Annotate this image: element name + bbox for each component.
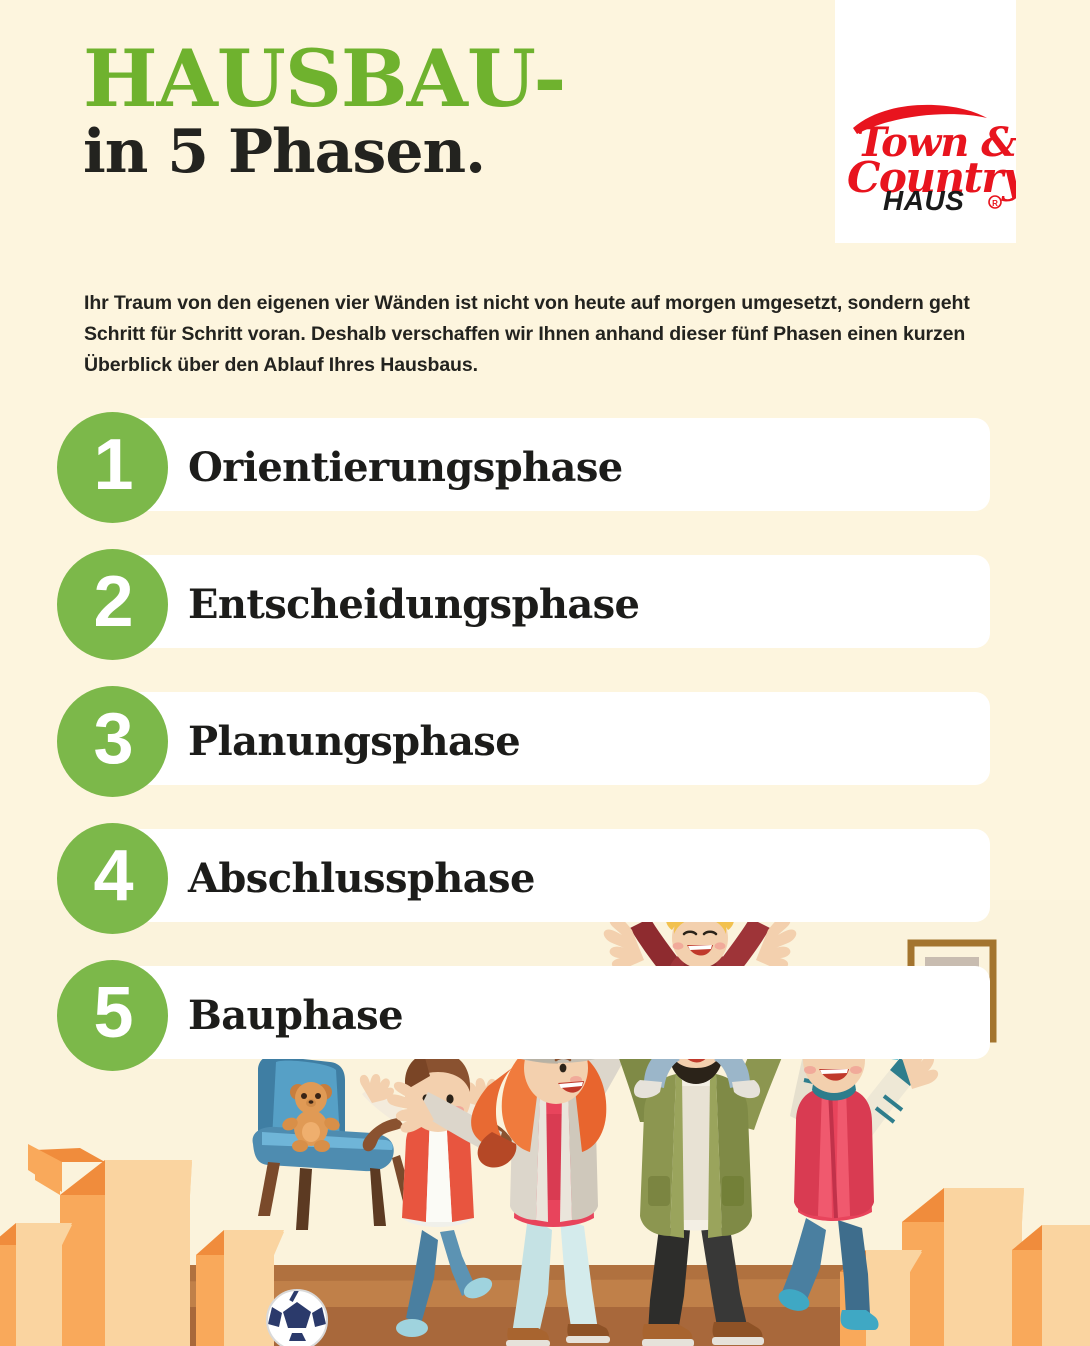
phase-number: 4 [93, 840, 131, 912]
phase-number: 2 [93, 566, 131, 638]
phase-label: Planungsphase [188, 686, 520, 797]
brand-logo: Town & Country HAUS R [835, 0, 1016, 243]
phase-label: Orientierungsphase [188, 412, 623, 523]
svg-text:R: R [992, 199, 998, 208]
svg-text:HAUS: HAUS [883, 185, 964, 216]
phase-number-badge: 2 [57, 549, 168, 660]
phase-row[interactable]: 5 Bauphase [0, 960, 1090, 1072]
phase-row[interactable]: 2 Entscheidungsphase [0, 549, 1090, 661]
phase-number-badge: 3 [57, 686, 168, 797]
phase-number-badge: 1 [57, 412, 168, 523]
town-country-haus-logo-icon: Town & Country HAUS R [835, 88, 1016, 218]
phase-row[interactable]: 3 Planungsphase [0, 686, 1090, 798]
infographic-page: Town & Country HAUS R HAUSBAU- in 5 Phas… [0, 0, 1090, 1346]
phase-number: 5 [93, 977, 131, 1049]
phase-row[interactable]: 1 Orientierungsphase [0, 412, 1090, 524]
phase-number-badge: 5 [57, 960, 168, 1071]
phase-label: Entscheidungsphase [188, 549, 639, 660]
phase-label: Abschlussphase [188, 823, 535, 934]
phase-number: 3 [93, 703, 131, 775]
phase-row[interactable]: 4 Abschlussphase [0, 823, 1090, 935]
phase-number-badge: 4 [57, 823, 168, 934]
phase-label: Bauphase [188, 960, 403, 1071]
phase-number: 1 [93, 429, 131, 501]
